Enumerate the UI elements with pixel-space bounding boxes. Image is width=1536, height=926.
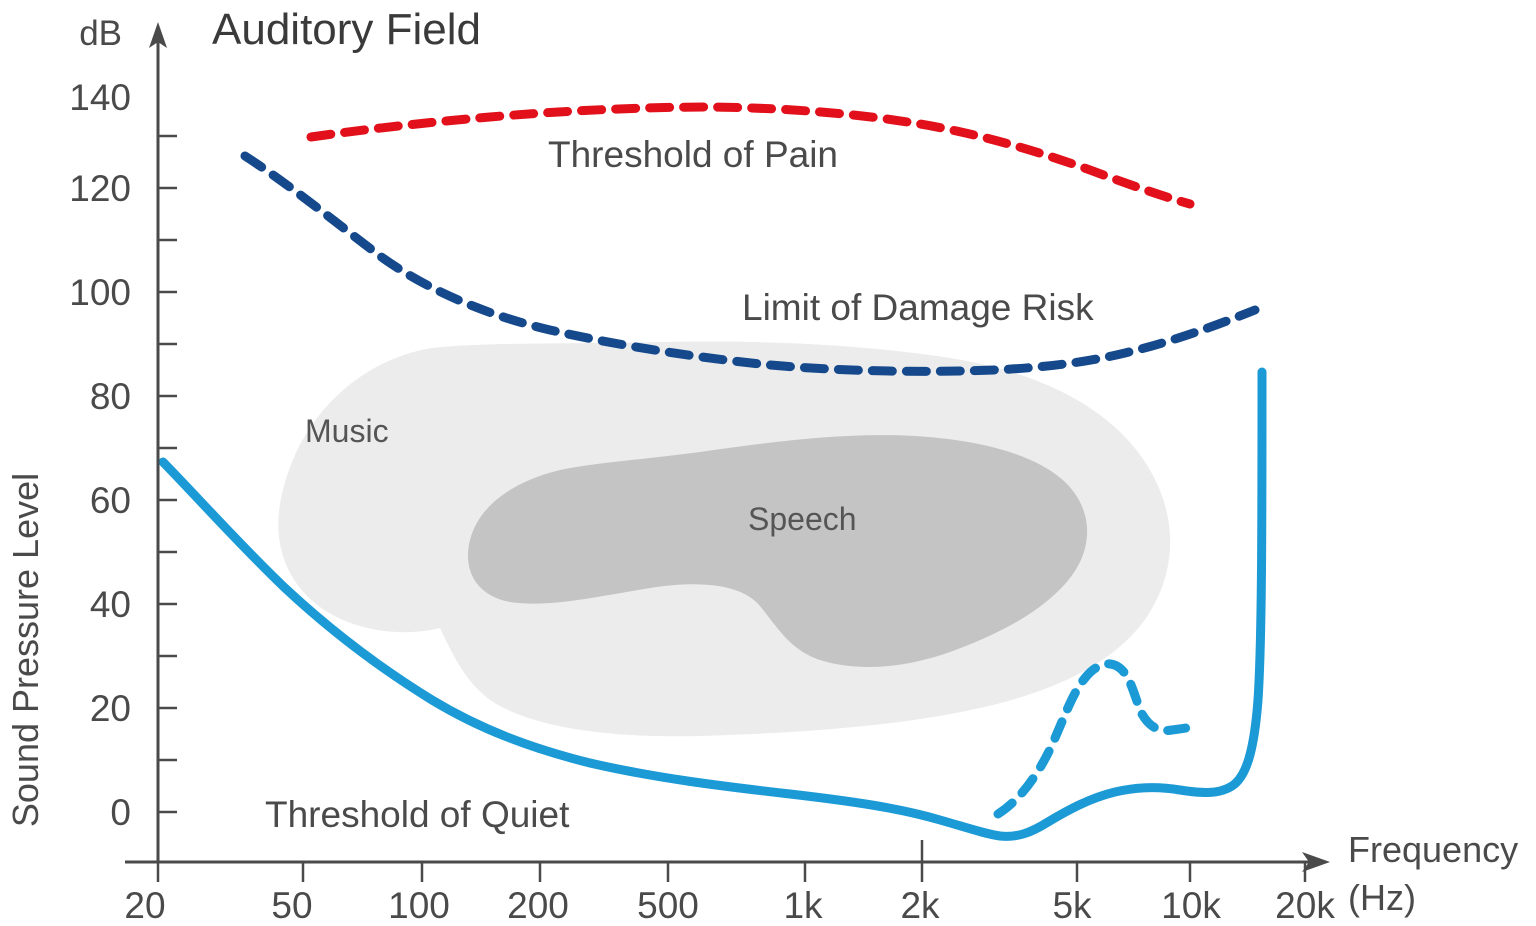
y-tick-label-100: 100: [69, 272, 131, 313]
x-tick-label-200: 200: [507, 885, 569, 926]
x-tick-label-2k: 2k: [900, 885, 940, 926]
x-tick-label-100: 100: [388, 885, 450, 926]
y-tick-label-60: 60: [90, 480, 131, 521]
x-tick-label-20: 20: [124, 885, 165, 926]
chart-title: Auditory Field: [212, 5, 481, 54]
y-tick-label-140: 140: [69, 77, 131, 118]
x-tick-label-50: 50: [271, 885, 312, 926]
y-tick-label-20: 20: [90, 688, 131, 729]
x-axis: 20 50 100 200 500 1k 2k 5k 10k 20k Frequ…: [124, 829, 1518, 926]
speech-region-label: Speech: [748, 501, 857, 537]
y-axis: 0 20 40 60 80 100 120 140 dB Sound Press…: [5, 14, 177, 862]
limit-of-damage-risk-curve: [245, 156, 1255, 371]
music-region-label: Music: [305, 413, 389, 449]
threshold-of-pain-label: Threshold of Pain: [548, 134, 838, 175]
chart-canvas: Music Speech: [0, 0, 1536, 926]
y-tick-label-40: 40: [90, 584, 131, 625]
x-axis-title-line2: (Hz): [1348, 877, 1416, 918]
y-tick-label-120: 120: [69, 168, 131, 209]
x-tick-label-10k: 10k: [1161, 885, 1221, 926]
y-axis-unit-label: dB: [79, 14, 122, 53]
auditory-field-chart: Music Speech: [0, 0, 1536, 926]
y-tick-label-80: 80: [90, 376, 131, 417]
x-tick-label-20k: 20k: [1275, 885, 1335, 926]
y-tick-label-0: 0: [110, 792, 131, 833]
x-tick-label-5k: 5k: [1052, 885, 1092, 926]
y-axis-title: Sound Pressure Level: [5, 473, 46, 827]
x-tick-label-500: 500: [637, 885, 699, 926]
x-tick-label-1k: 1k: [783, 885, 823, 926]
x-axis-title-line1: Frequency: [1348, 829, 1518, 870]
threshold-of-quiet-label: Threshold of Quiet: [265, 794, 570, 835]
limit-of-damage-risk-label: Limit of Damage Risk: [742, 287, 1094, 328]
